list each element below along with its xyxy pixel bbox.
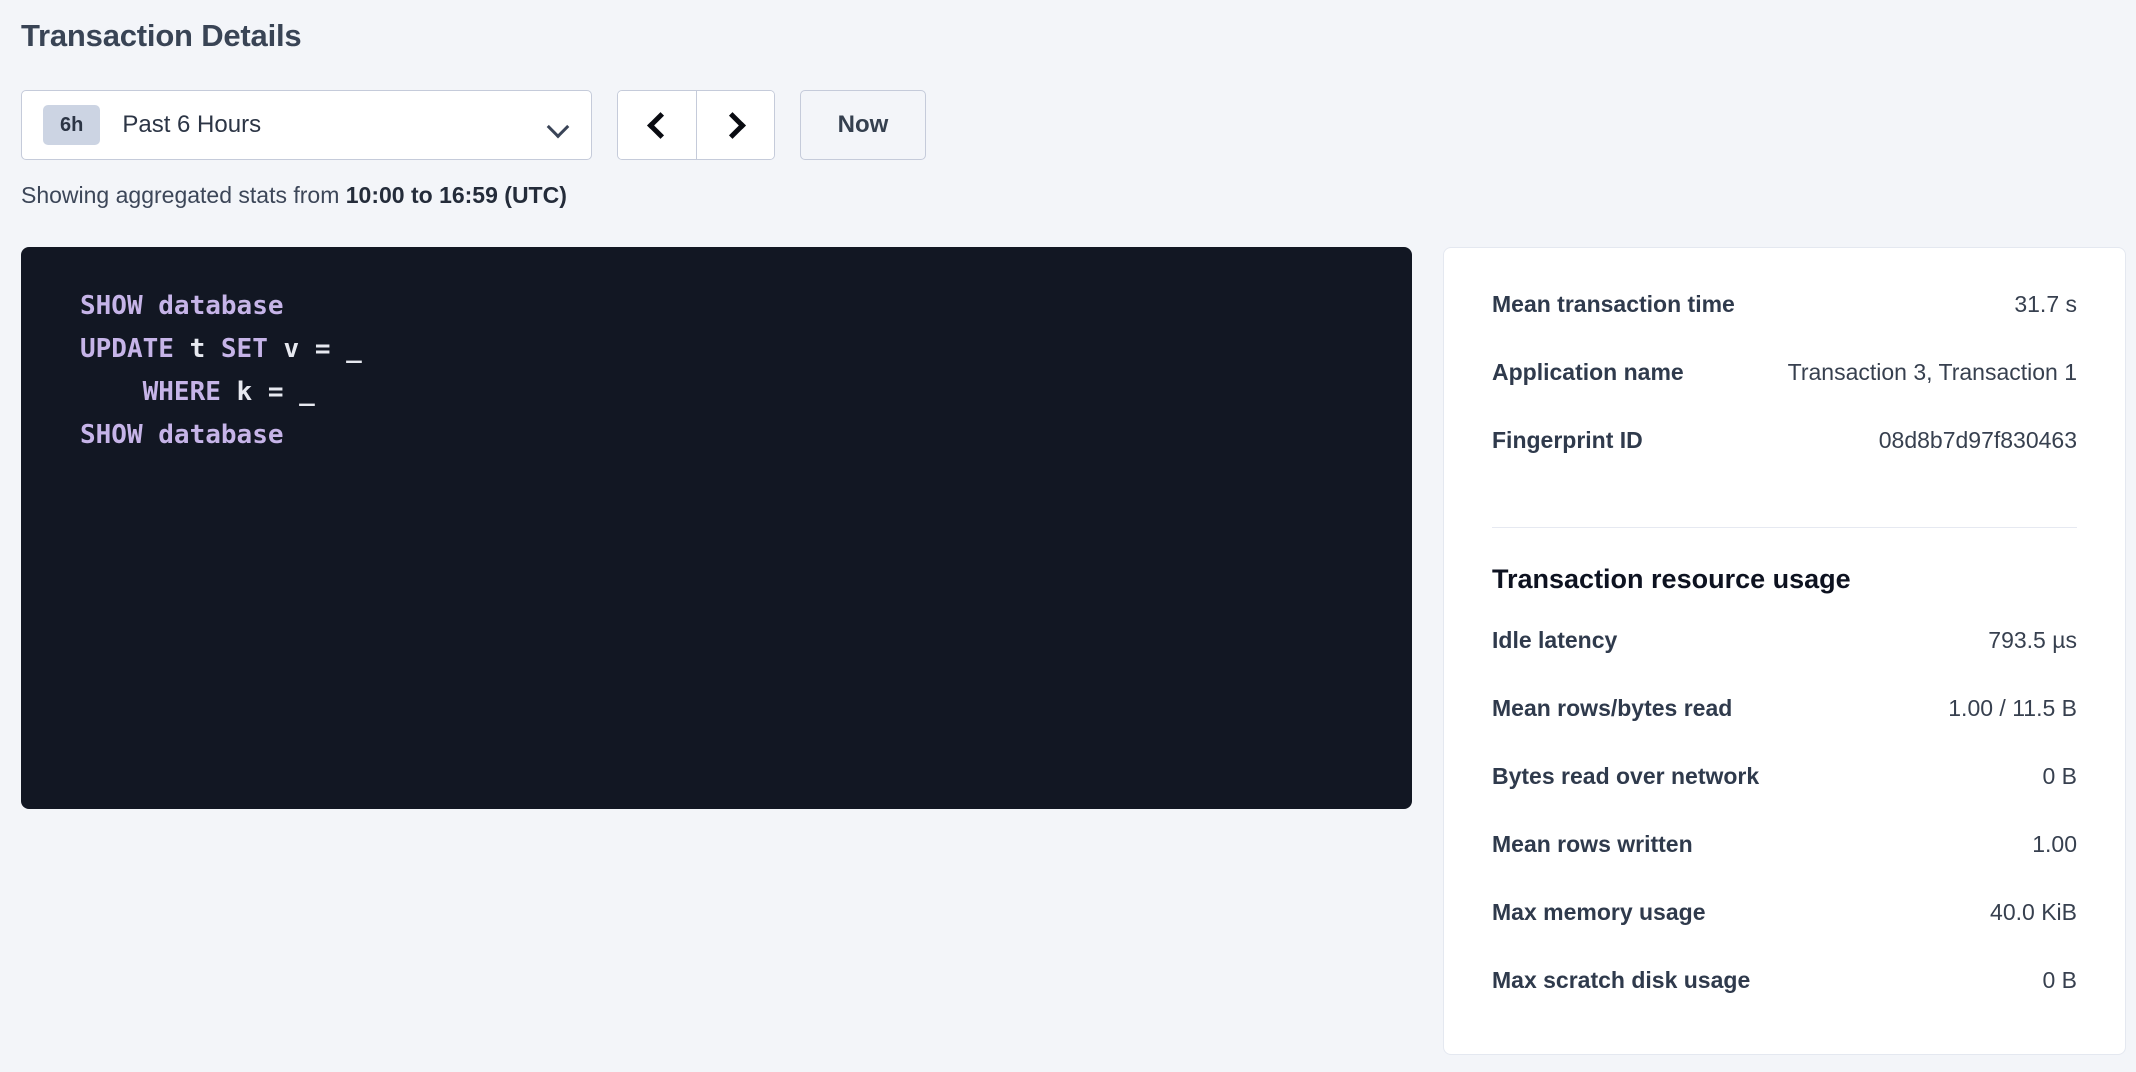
stat-row: Mean rows written1.00 [1492,831,2077,899]
sql-token [80,377,143,407]
transaction-details-page: Transaction Details 6h Past 6 Hours Now … [0,0,2136,1072]
sql-token [143,291,159,321]
stat-row: Bytes read over network0 B [1492,763,2077,831]
chevron-left-icon [647,112,674,139]
stat-row: Idle latency793.5 µs [1492,627,2077,695]
stat-row: Application nameTransaction 3, Transacti… [1492,359,2077,427]
stat-label: Mean rows/bytes read [1492,695,1732,722]
sql-token: database [158,420,283,450]
sql-token: SHOW [80,420,143,450]
stat-value: 31.7 s [2014,291,2077,318]
sql-token: t [174,334,221,364]
stat-value: 0 B [2042,763,2077,790]
chevron-down-icon [547,119,569,132]
stat-value: 40.0 KiB [1990,899,2077,926]
chevron-right-icon [719,112,746,139]
sql-token [143,420,159,450]
stat-value: 1.00 / 11.5 B [1948,695,2077,722]
stat-label: Application name [1492,359,1684,386]
sql-statement-block[interactable]: SHOW database UPDATE t SET v = _ WHERE k… [21,247,1412,809]
stat-label: Idle latency [1492,627,1617,654]
next-period-button[interactable] [696,91,774,159]
aggregation-range-note: Showing aggregated stats from 10:00 to 1… [21,180,567,210]
sql-statement-text: SHOW database UPDATE t SET v = _ WHERE k… [80,285,1412,457]
page-title: Transaction Details [21,16,301,56]
resource-stats-list: Idle latency793.5 µsMean rows/bytes read… [1492,627,2077,1035]
stat-row: Mean transaction time31.7 s [1492,291,2077,359]
stat-label: Max scratch disk usage [1492,967,1750,994]
stat-row: Max scratch disk usage0 B [1492,967,2077,1035]
stat-value: 793.5 µs [1988,627,2077,654]
stat-row: Fingerprint ID08d8b7d97f830463 [1492,427,2077,495]
stat-row: Max memory usage40.0 KiB [1492,899,2077,967]
sql-token: database [158,291,283,321]
sql-token: SET [221,334,268,364]
summary-stats-list: Mean transaction time31.7 sApplication n… [1492,291,2077,495]
sql-token: UPDATE [80,334,174,364]
stat-label: Mean rows written [1492,831,1693,858]
stat-value: 08d8b7d97f830463 [1879,427,2077,454]
range-note-value: 10:00 to 16:59 (UTC) [346,182,567,208]
sql-token: k = _ [221,377,315,407]
now-button[interactable]: Now [800,90,926,160]
sql-token: SHOW [80,291,143,321]
stat-row: Mean rows/bytes read1.00 / 11.5 B [1492,695,2077,763]
stat-value: 0 B [2042,967,2077,994]
stat-value: 1.00 [2032,831,2077,858]
time-range-select[interactable]: 6h Past 6 Hours [21,90,592,160]
time-range-toolbar: 6h Past 6 Hours Now [21,90,926,160]
transaction-details-card: Mean transaction time31.7 sApplication n… [1443,247,2126,1055]
resource-usage-title: Transaction resource usage [1492,562,2077,596]
stat-value: Transaction 3, Transaction 1 [1788,359,2077,386]
stat-label: Fingerprint ID [1492,427,1643,454]
stat-label: Mean transaction time [1492,291,1735,318]
range-note-prefix: Showing aggregated stats from [21,182,346,208]
previous-period-button[interactable] [618,91,696,159]
stat-label: Max memory usage [1492,899,1705,926]
stat-label: Bytes read over network [1492,763,1759,790]
time-nav-group [617,90,775,160]
card-divider [1492,527,2077,528]
time-range-label: Past 6 Hours [122,110,547,140]
time-range-badge: 6h [43,105,100,145]
sql-token: WHERE [143,377,221,407]
sql-token: v = _ [268,334,362,364]
